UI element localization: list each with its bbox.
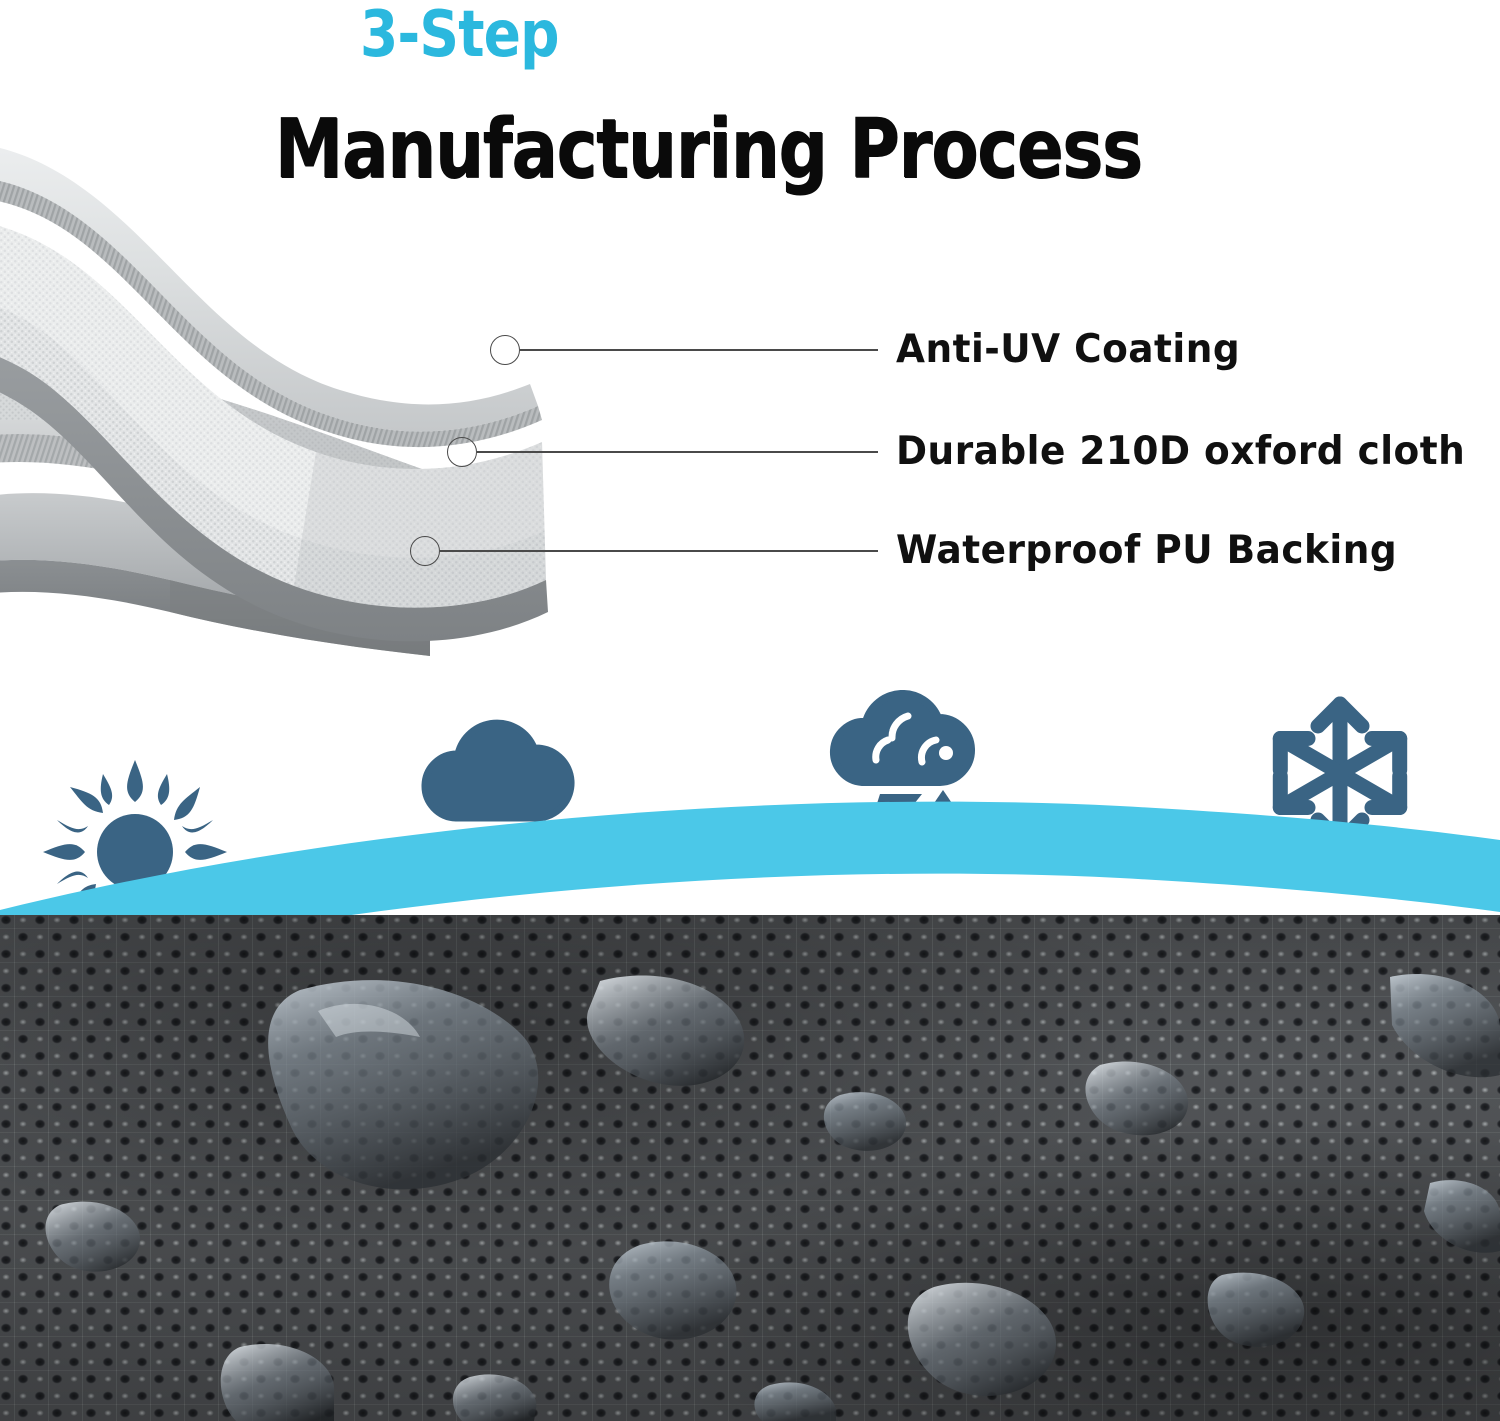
- kicker-label: 3-Step: [360, 0, 559, 72]
- layer-anti-uv-coating: [0, 142, 548, 641]
- callout-dot-oxford: [447, 437, 477, 467]
- callout-label-pu: Waterproof PU Backing: [896, 528, 1397, 573]
- layer-oxford-cloth: [0, 365, 465, 540]
- callout-dot-pu: [410, 536, 440, 566]
- callout-leader-anti-uv: [520, 349, 878, 351]
- waterproof-fabric-photo: [0, 915, 1500, 1421]
- product-infographic: 3-Step Manufacturing Process Anti-UV Coa…: [0, 0, 1500, 1421]
- callout-dot-anti-uv: [490, 335, 520, 365]
- page-title: Manufacturing Process: [120, 108, 1380, 192]
- page-title-label: Manufacturing Process: [274, 102, 1141, 197]
- callout-leader-pu: [440, 550, 878, 552]
- droplets: [45, 974, 1500, 1421]
- callout-label-anti-uv: Anti-UV Coating: [896, 327, 1240, 372]
- water-droplets-layer: [0, 915, 1500, 1421]
- kicker-text: 3-Step: [105, 2, 1395, 69]
- callout-label-oxford: Durable 210D oxford cloth: [896, 429, 1465, 474]
- callout-leader-oxford: [477, 451, 878, 453]
- layer-pu-backing: [0, 493, 430, 670]
